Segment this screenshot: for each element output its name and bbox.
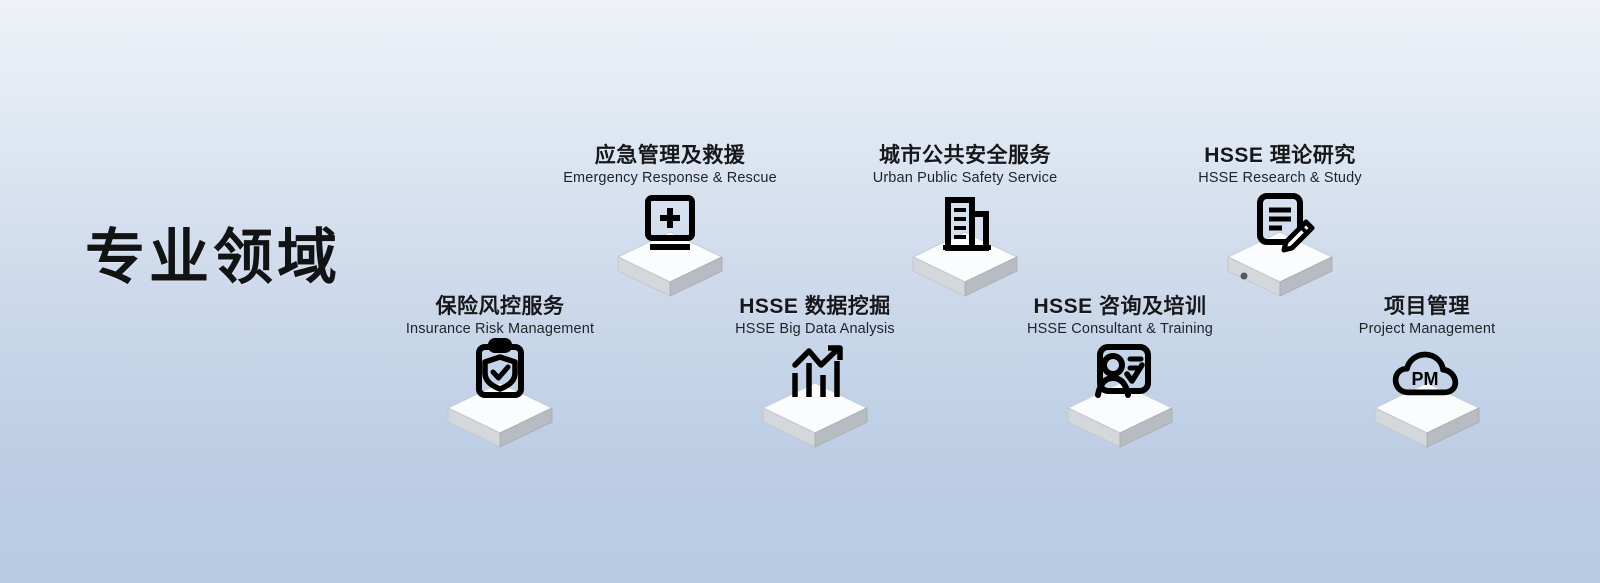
- domain-artwork: [520, 194, 820, 304]
- domain-label-en: Emergency Response & Rescue: [520, 171, 820, 186]
- domain-label-zh: HSSE 数据挖掘: [665, 296, 965, 317]
- domain-artwork: [665, 345, 965, 455]
- domain-card-hsse-consultant-training[interactable]: HSSE 咨询及培训 HSSE Consultant & Training: [970, 296, 1270, 455]
- clipboard-shield-check-icon: [464, 337, 536, 409]
- domain-artwork: [1130, 194, 1430, 304]
- domain-label-en: Insurance Risk Management: [350, 322, 650, 337]
- domain-card-urban-public-safety-service[interactable]: 城市公共安全服务 Urban Public Safety Service: [815, 145, 1115, 304]
- domain-label-en: Urban Public Safety Service: [815, 171, 1115, 186]
- domain-artwork: [815, 194, 1115, 304]
- domain-label-zh: 城市公共安全服务: [815, 145, 1115, 166]
- domain-label-zh: 保险风控服务: [350, 296, 650, 317]
- city-building-icon: [929, 192, 1001, 264]
- domain-card-emergency-response-rescue[interactable]: 应急管理及救援 Emergency Response & Rescue: [520, 145, 820, 304]
- domain-label-en: Project Management: [1277, 322, 1577, 337]
- professional-domains-banner: 专业领域 应急管理及救援 Emergency Response & Rescue: [0, 0, 1600, 583]
- domain-label-zh: HSSE 咨询及培训: [970, 296, 1270, 317]
- page-title: 专业领域: [85, 228, 341, 288]
- domain-artwork: [350, 345, 650, 455]
- bar-chart-trend-arrow-icon: [779, 339, 851, 411]
- domain-artwork: [970, 345, 1270, 455]
- domain-label-en: HSSE Big Data Analysis: [665, 322, 965, 337]
- domain-card-insurance-risk-management[interactable]: 保险风控服务 Insurance Risk Management: [350, 296, 650, 455]
- domain-card-hsse-research-study[interactable]: HSSE 理论研究 HSSE Research & Study: [1130, 145, 1430, 304]
- domain-label-zh: 项目管理: [1277, 296, 1577, 317]
- pm-abbreviation-label: PM: [1412, 368, 1439, 388]
- domain-card-hsse-big-data-analysis[interactable]: HSSE 数据挖掘 HSSE Big Data Analysis: [665, 296, 965, 455]
- document-pencil-icon: [1248, 190, 1320, 262]
- cloud-pm-icon: PM: [1389, 345, 1465, 417]
- medical-plus-card-icon: [634, 190, 706, 262]
- domain-label-en: HSSE Consultant & Training: [970, 322, 1270, 337]
- domain-label-zh: HSSE 理论研究: [1130, 145, 1430, 166]
- domain-card-project-management[interactable]: 项目管理 Project Management PM: [1277, 296, 1577, 455]
- domain-artwork: PM: [1277, 345, 1577, 455]
- domain-label-zh: 应急管理及救援: [520, 145, 820, 166]
- domain-label-en: HSSE Research & Study: [1130, 171, 1430, 186]
- person-id-card-check-icon: [1086, 339, 1158, 411]
